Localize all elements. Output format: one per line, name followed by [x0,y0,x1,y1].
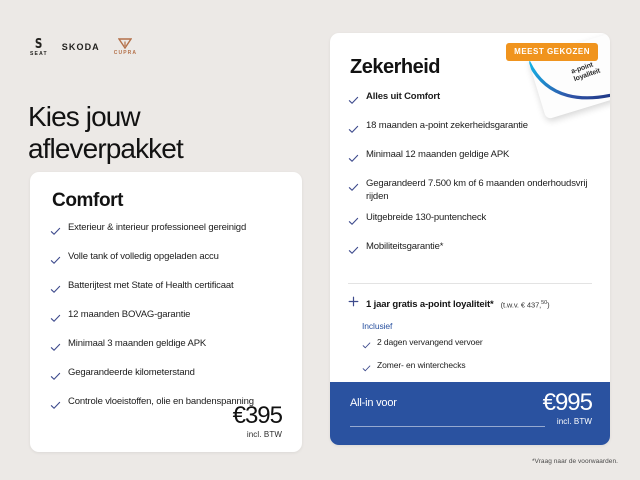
comfort-feature-item: Exterieur & interieur professioneel gere… [50,222,282,242]
check-icon [362,360,371,378]
footnote: *Vraag naar de voorwaarden. [532,458,618,465]
check-icon [348,93,359,111]
allin-price-bar: All-in voor €995 incl. BTW [330,382,610,445]
promo-page: S SEAT SKODA CUPRA Kies jouw afleverpakk… [0,0,640,480]
zekerheid-feature-label: Mobiliteitsgarantie* [366,241,443,254]
check-icon [50,282,61,300]
loyalty-value: (t.w.v. € 437,50) [501,300,550,310]
zekerheid-price-block: €995 incl. BTW [543,390,592,426]
skoda-logo: SKODA [62,43,100,52]
zekerheid-feature-item: Alles uit Comfort [348,91,596,111]
section-divider [348,283,592,284]
comfort-feature-item: Volle tank of volledig opgeladen accu [50,251,282,271]
zekerheid-feature-item: 18 maanden a-point zekerheidsgarantie [348,120,596,140]
check-icon [50,398,61,416]
check-icon [348,151,359,169]
skoda-wordmark: SKODA [62,43,100,52]
comfort-price-note: incl. BTW [233,430,282,439]
check-icon [362,337,371,355]
comfort-feature-label: Volle tank of volledig opgeladen accu [68,251,219,264]
comfort-feature-item: 12 maanden BOVAG-garantie [50,309,282,329]
comfort-price: €395 [233,403,282,429]
check-icon [50,311,61,329]
comfort-feature-label: 12 maanden BOVAG-garantie [68,309,190,322]
zekerheid-feature-label: Gegarandeerd 7.500 km of 6 maanden onder… [366,178,596,203]
inclusief-item-label: 2 dagen vervangend vervoer [377,337,483,348]
inclusief-title: Inclusief [362,321,542,331]
page-title-line2: afleverpakket [28,133,183,164]
check-icon [50,340,61,358]
zekerheid-feature-label: 18 maanden a-point zekerheidsgarantie [366,120,528,133]
loyalty-highlight-row: 1 jaar gratis a-point loyaliteit* (t.w.v… [348,296,604,310]
zekerheid-feature-item: Uitgebreide 130-puntencheck [348,212,596,232]
zekerheid-package-card[interactable]: MEEST GEKOZEN Zekerheid Alles uit Comfor… [330,33,610,445]
zekerheid-feature-item: Gegarandeerd 7.500 km of 6 maanden onder… [348,178,596,203]
comfort-feature-item: Gegarandeerde kilometerstand [50,367,282,387]
comfort-feature-item: Batterijtest met State of Health certifi… [50,280,282,300]
allin-label: All-in voor [350,397,397,409]
seat-logo: S SEAT [30,38,48,57]
left-column: S SEAT SKODA CUPRA Kies jouw afleverpakk… [0,0,320,480]
check-icon [348,243,359,261]
check-icon [348,214,359,232]
page-title-line1: Kies jouw [28,101,140,132]
check-icon [50,369,61,387]
comfort-feature-label: Gegarandeerde kilometerstand [68,367,195,380]
comfort-title: Comfort [52,190,123,212]
comfort-feature-label: Minimaal 3 maanden geldige APK [68,338,206,351]
comfort-feature-label: Controle vloeistoffen, olie en bandenspa… [68,396,254,409]
check-icon [50,253,61,271]
inclusief-item: 2 dagen vervangend vervoer [362,337,542,355]
zekerheid-title: Zekerheid [350,56,440,79]
check-icon [348,122,359,140]
seat-wordmark: SEAT [30,52,48,57]
allin-rule [350,426,545,427]
loyalty-card-line1: a-point [570,62,594,76]
loyalty-card-text: a-point loyaliteit [570,60,601,84]
comfort-price-block: €395 incl. BTW [233,403,282,439]
comfort-feature-label: Batterijtest met State of Health certifi… [68,280,234,293]
zekerheid-price-note: incl. BTW [543,417,592,426]
comfort-feature-item: Minimaal 3 maanden geldige APK [50,338,282,358]
plus-icon [348,296,359,309]
loyalty-label: 1 jaar gratis a-point loyaliteit* [366,299,494,310]
loyalty-value-suffix: ) [547,300,549,309]
comfort-feature-list: Exterieur & interieur professioneel gere… [50,222,282,425]
cupra-triangle-icon [118,38,132,50]
zekerheid-price: €995 [543,390,592,416]
comfort-package-card[interactable]: Comfort Exterieur & interieur profession… [30,172,302,452]
inclusief-item-label: Zomer- en winterchecks [377,360,466,371]
check-icon [348,180,359,198]
loyalty-value-prefix: (t.w.v. € 437, [501,300,542,309]
zekerheid-feature-list: Alles uit Comfort18 maanden a-point zeke… [348,91,596,270]
seat-mark-icon: S [35,38,42,51]
zekerheid-feature-item: Minimaal 12 maanden geldige APK [348,149,596,169]
zekerheid-feature-item: Mobiliteitsgarantie* [348,241,596,261]
inclusief-item: Zomer- en winterchecks [362,360,542,378]
zekerheid-feature-label: Minimaal 12 maanden geldige APK [366,149,509,162]
comfort-feature-label: Exterieur & interieur professioneel gere… [68,222,246,235]
cupra-logo: CUPRA [114,38,137,56]
most-chosen-badge: MEEST GEKOZEN [506,43,598,61]
zekerheid-feature-label: Uitgebreide 130-puntencheck [366,212,486,225]
page-title: Kies jouw afleverpakket [28,101,298,165]
brand-logo-bar: S SEAT SKODA CUPRA [30,36,137,58]
zekerheid-feature-label: Alles uit Comfort [366,91,440,104]
check-icon [50,224,61,242]
loyalty-card-line2: loyaliteit [573,68,601,84]
cupra-wordmark: CUPRA [114,51,137,56]
